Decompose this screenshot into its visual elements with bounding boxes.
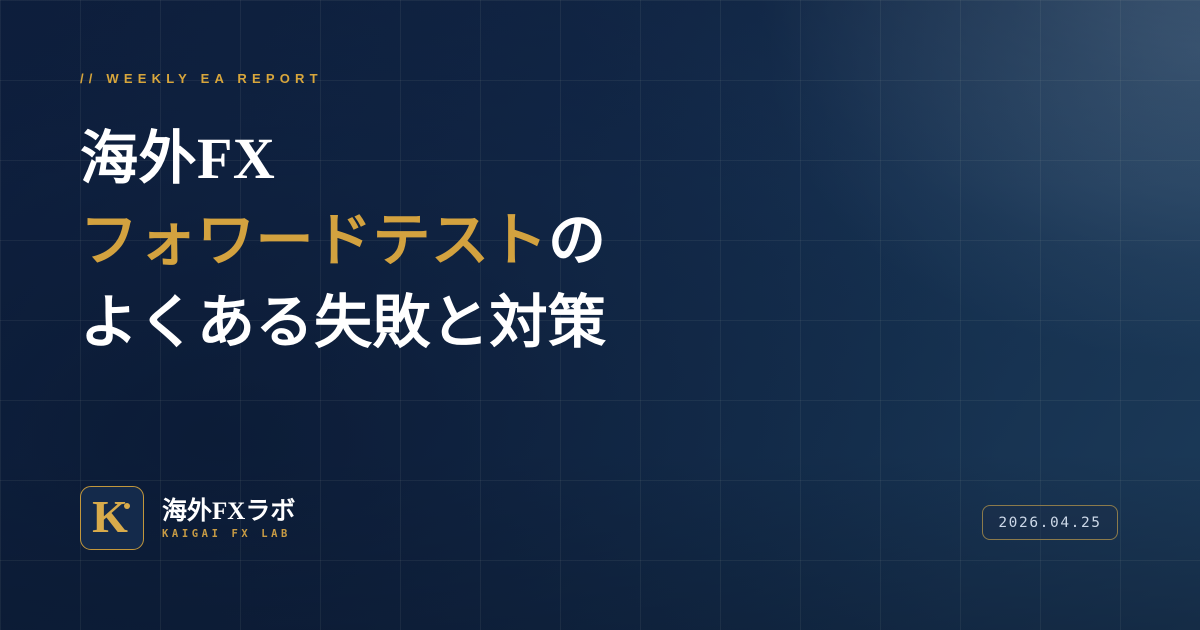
headline-line-2-suffix: の: [548, 208, 607, 273]
brand-name-en: KAIGAI FX LAB: [162, 528, 295, 540]
headline-line-3-text: よくある失敗と対策: [80, 290, 607, 355]
headline-line-1: 海外FX: [80, 118, 980, 200]
banner-content: // WEEKLY EA REPORT 海外FX フォワードテストの よくある失…: [0, 0, 1200, 630]
og-banner-canvas: // WEEKLY EA REPORT 海外FX フォワードテストの よくある失…: [0, 0, 1200, 630]
page-title: 海外FX フォワードテストの よくある失敗と対策: [80, 118, 980, 364]
date-badge: 2026.04.25: [982, 505, 1118, 540]
brand-text-block: 海外FXラボ KAIGAI FX LAB: [162, 497, 295, 540]
brand-lockup: K 海外FXラボ KAIGAI FX LAB: [80, 486, 295, 550]
headline-line-1-text: 海外FX: [80, 126, 275, 191]
logo-letter: K: [92, 494, 128, 540]
logo-icon: K: [80, 486, 144, 550]
brand-name-ja: 海外FXラボ: [162, 497, 295, 526]
eyebrow-label: // WEEKLY EA REPORT: [80, 71, 323, 86]
headline-line-2-highlight: フォワードテスト: [80, 208, 548, 273]
headline-line-3: よくある失敗と対策: [80, 282, 980, 364]
logo-dot-icon: [124, 503, 130, 509]
headline-line-2: フォワードテストの: [80, 200, 980, 282]
